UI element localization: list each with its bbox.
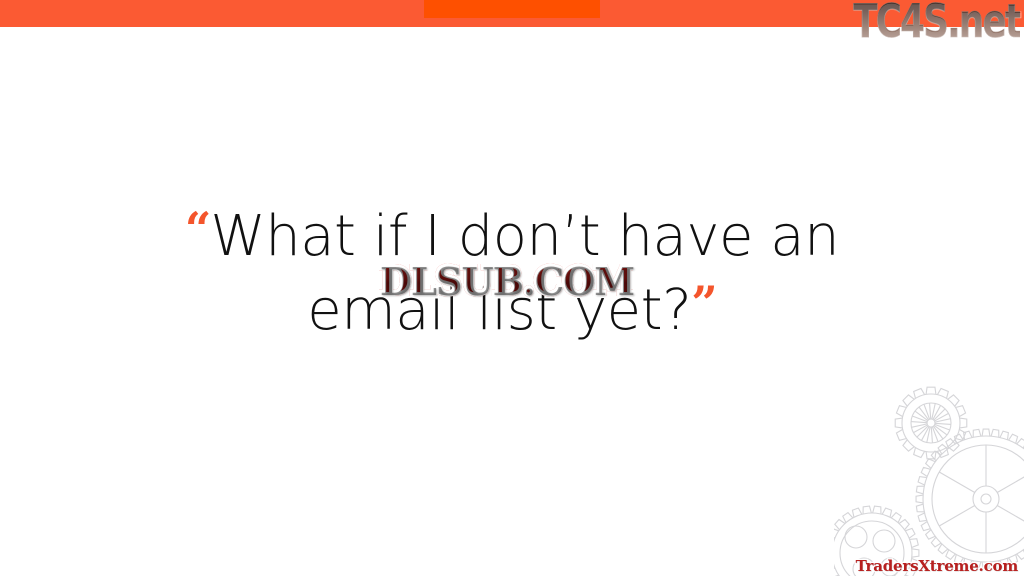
- gear-watermark-svg: [834, 381, 1024, 576]
- header-accent-block: [424, 0, 600, 18]
- brand-logo: TC4S.net: [853, 0, 1020, 44]
- dlsub-watermark-text: DLSUB.COM: [379, 258, 633, 303]
- gear-large: [916, 429, 1024, 569]
- close-quote-mark: ”: [691, 276, 716, 330]
- footer-watermark-text: TradersXtreme.com: [856, 557, 1018, 575]
- open-quote-mark: “: [185, 202, 210, 256]
- dlsub-watermark: DLSUB.COM: [379, 262, 633, 300]
- footer-watermark: TradersXtreme.com: [856, 557, 1018, 575]
- gear-small-top: [895, 387, 967, 459]
- gear-watermark: [834, 381, 1024, 576]
- slide-canvas: TC4S.net “What if I don’t have an email …: [0, 0, 1024, 576]
